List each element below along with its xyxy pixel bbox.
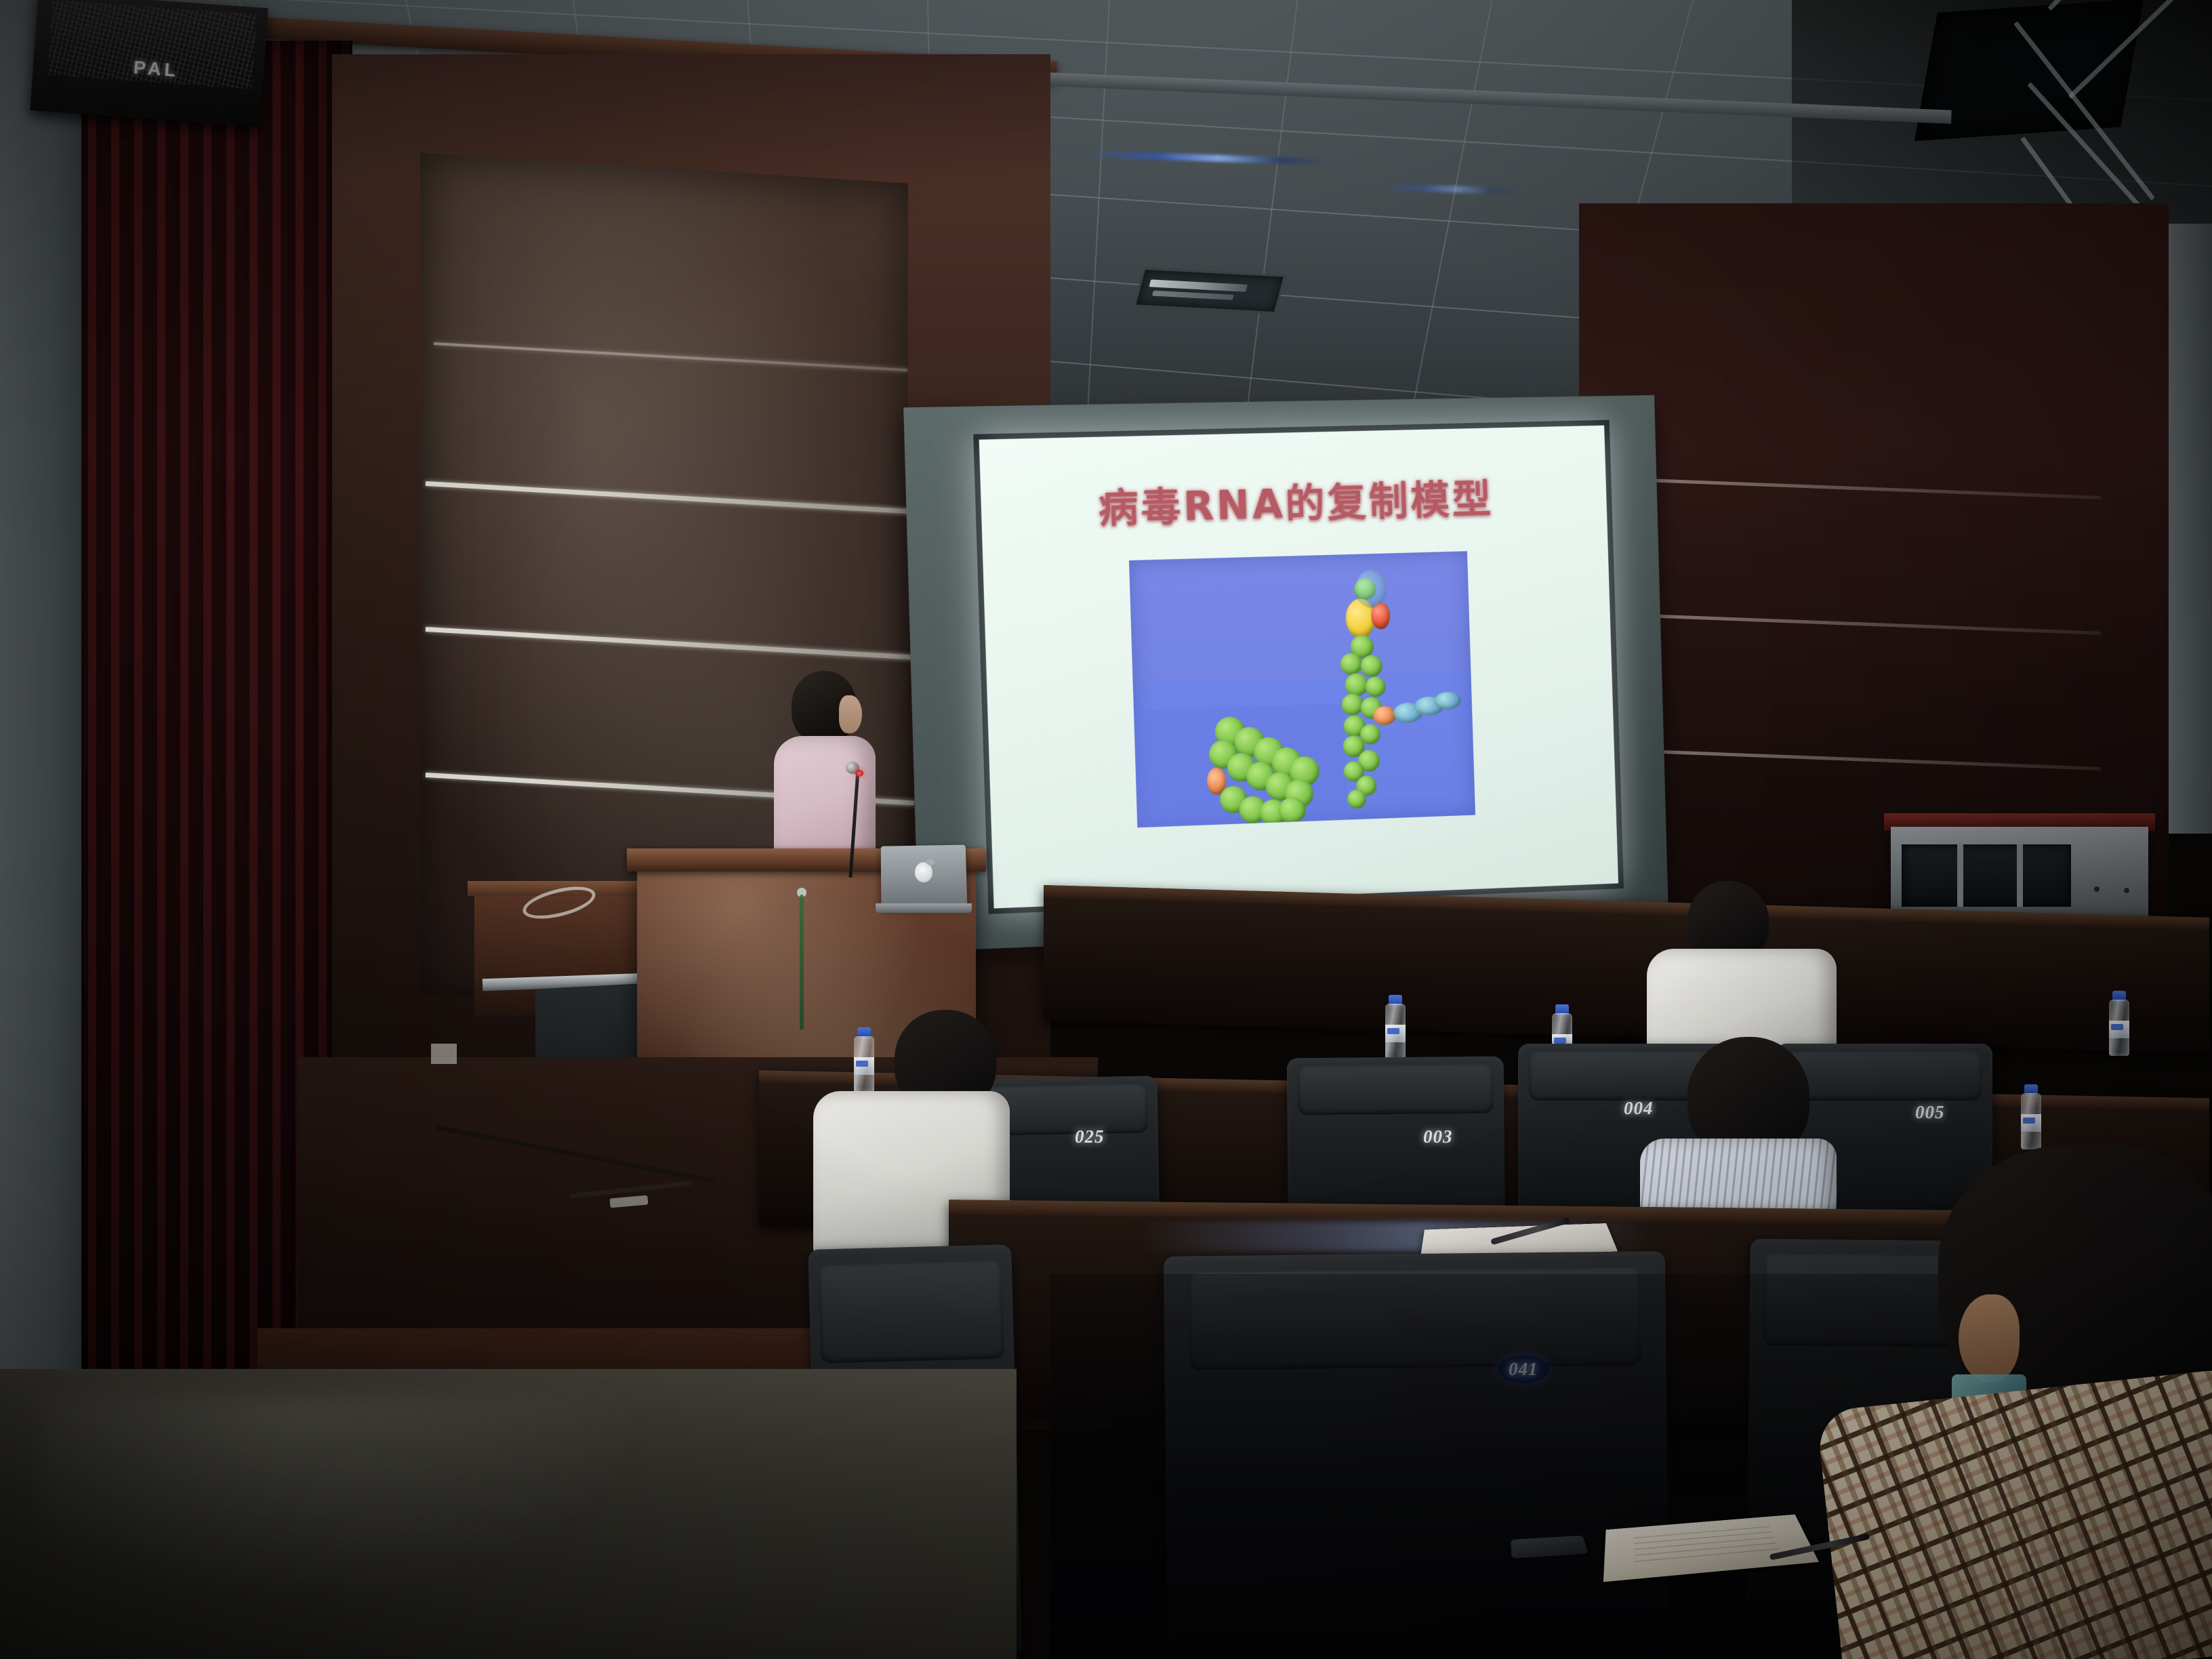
rack-screw-2 <box>2124 888 2129 893</box>
slide-title: 病毒RNA的复制模型 <box>1097 467 1494 534</box>
wall-outlet[interactable] <box>431 1044 457 1064</box>
floor-reflection <box>41 1396 651 1599</box>
bottle-label <box>1385 1025 1406 1042</box>
podium-cord <box>800 895 804 1030</box>
rack-divider-2 <box>2017 844 2023 907</box>
water-bottle-6[interactable] <box>2020 1084 2043 1149</box>
attendee-plaid-foreground <box>1857 1145 2212 1659</box>
seat-number-003: 003 <box>1423 1126 1453 1147</box>
seat-number-005: 005 <box>1915 1102 1945 1123</box>
lecture-hall-scene: PAL 病毒RNA的复制模型 <box>0 0 2212 1659</box>
laptop-base <box>876 903 972 913</box>
presenter-face <box>839 695 862 733</box>
chair-headrest <box>819 1261 1004 1364</box>
apple-logo-icon <box>915 862 933 882</box>
pa-speaker: PAL <box>30 0 268 127</box>
speaker-brand-label: PAL <box>133 57 180 81</box>
chair-headrest <box>1298 1065 1494 1115</box>
rack-divider-1 <box>1957 844 1963 907</box>
bottle-label <box>2109 1021 2129 1038</box>
water-bottle-2[interactable] <box>1384 995 1407 1060</box>
left-wall <box>0 0 88 1396</box>
projection-screen-frame: 病毒RNA的复制模型 <box>973 420 1624 914</box>
attendee-plaid-shirt <box>1816 1368 2212 1659</box>
seat-number-025: 025 <box>1075 1126 1105 1147</box>
bottle-label <box>2021 1114 2041 1132</box>
water-bottle-7[interactable] <box>2108 991 2131 1056</box>
ceiling-light-3 <box>1133 268 1286 314</box>
notebook-lines <box>1634 1526 1781 1565</box>
rack-slot-bay <box>1902 844 2071 907</box>
projection-screen[interactable]: 病毒RNA的复制模型 <box>979 426 1618 909</box>
slide-figure <box>1129 551 1475 827</box>
rack-screw-1 <box>2094 886 2100 892</box>
attendee-plaid-ear <box>1959 1294 2020 1382</box>
presenter-laptop[interactable] <box>881 845 968 907</box>
microphone-status-led <box>855 770 863 777</box>
